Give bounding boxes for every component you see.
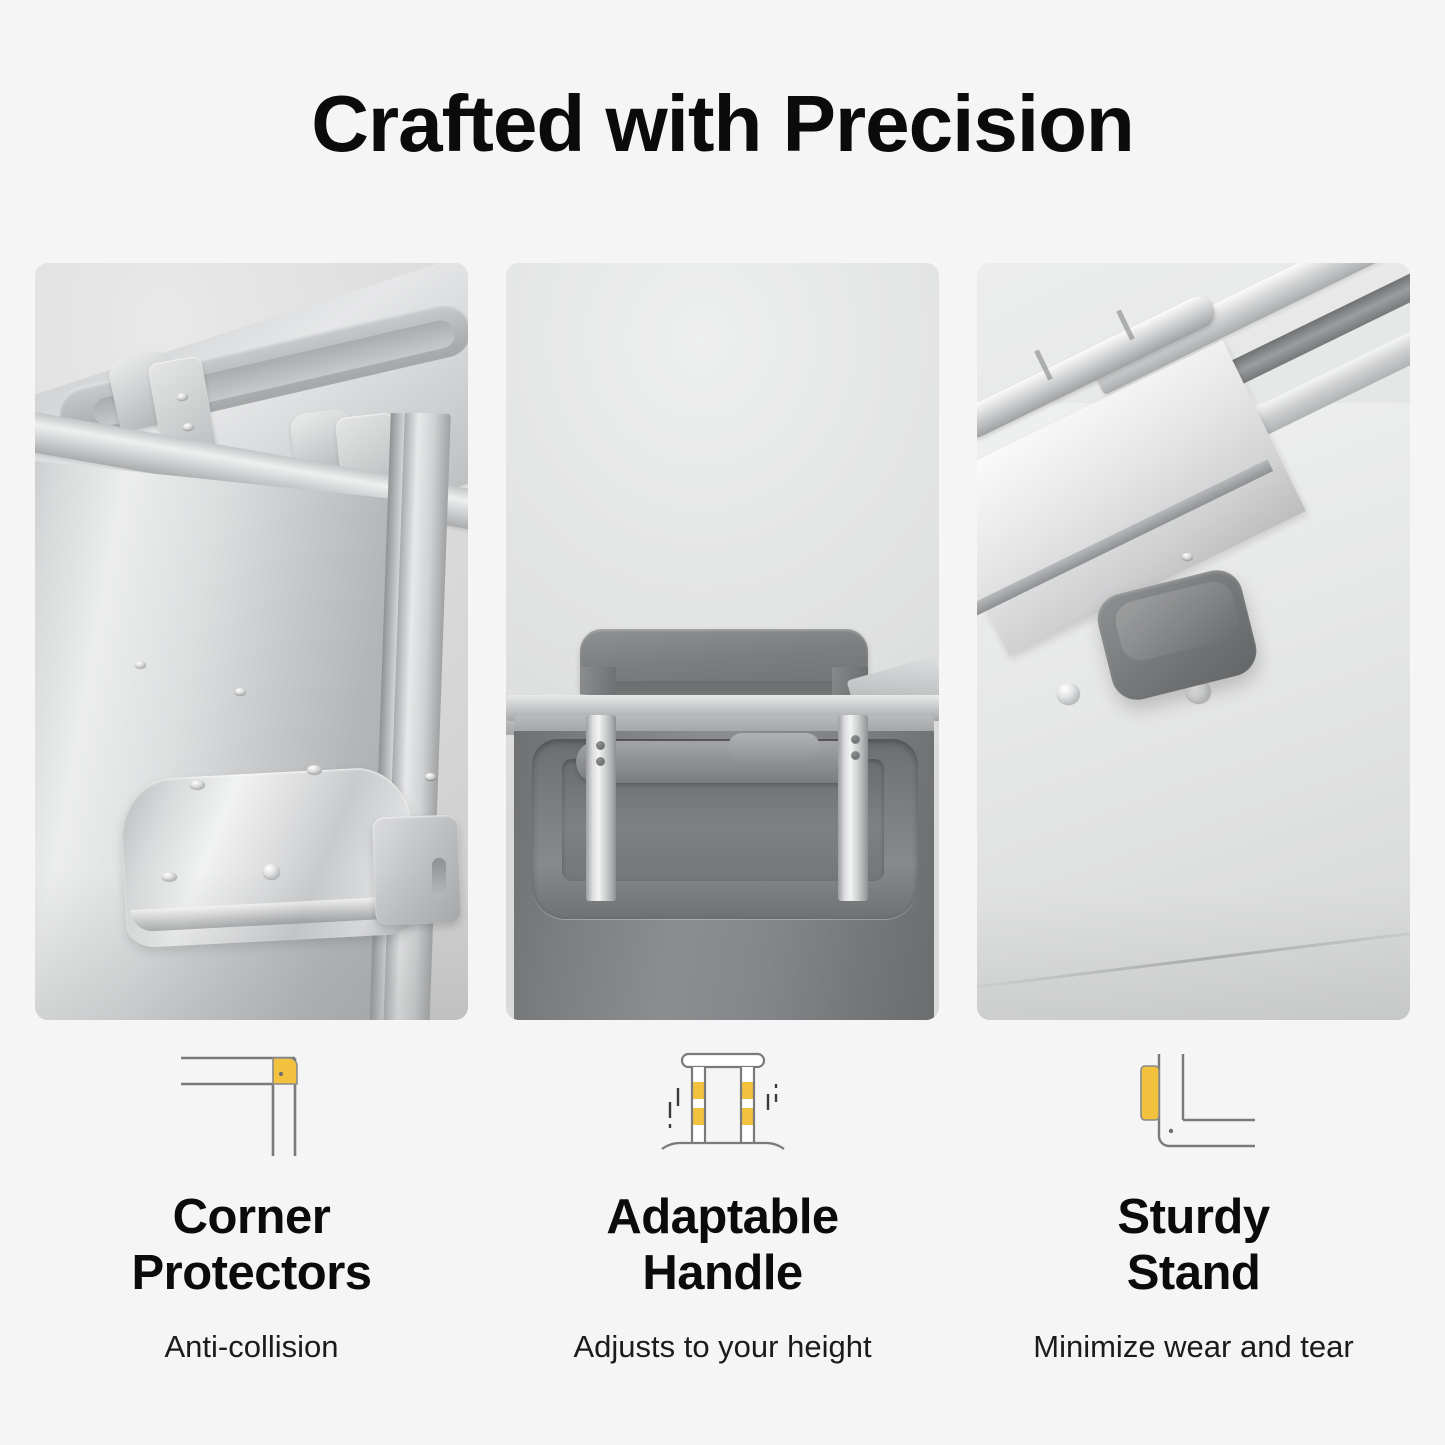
handle-adjust-button <box>851 751 860 760</box>
feature-column-sturdy-stand: Sturdy Stand Minimize wear and tear <box>977 263 1410 1383</box>
feature-column-corner-protectors: Corner Protectors Anti-collision <box>35 263 468 1383</box>
adaptable-handle-icon <box>648 1044 798 1164</box>
feature-subtitle-sturdy-stand: Minimize wear and tear <box>1033 1328 1353 1365</box>
side-carry-handle <box>576 741 864 783</box>
hinge-and-stand-foot-photo <box>977 263 1410 1020</box>
feature-title-line-2: Protectors <box>131 1246 371 1300</box>
sturdy-stand-icon-wrap <box>977 1040 1410 1168</box>
feature-title-line-2: Handle <box>642 1246 802 1300</box>
corner-protector-icon <box>177 1044 327 1164</box>
feature-title-line-2: Stand <box>1127 1246 1261 1300</box>
frame-rivet <box>135 661 146 668</box>
feature-title-sturdy-stand: Sturdy Stand <box>1117 1190 1269 1302</box>
photo-bottom-shadow <box>35 870 468 1020</box>
feature-title-line-1: Corner <box>173 1190 331 1244</box>
suitcase-corner-protector-photo <box>35 263 468 1020</box>
feature-columns: Corner Protectors Anti-collision <box>35 263 1412 1383</box>
page-title: Crafted with Precision <box>0 84 1445 164</box>
corner-rivet <box>190 780 205 789</box>
photo-bottom-shadow <box>977 890 1410 1020</box>
handle-adjust-button <box>596 741 605 750</box>
adaptable-handle-icon-wrap <box>506 1040 939 1168</box>
frame-rivet <box>235 688 246 695</box>
feature-column-adaptable-handle: Adaptable Handle Adjusts to your height <box>506 263 939 1383</box>
frame-rivet <box>425 773 436 780</box>
handle-adjust-button <box>851 735 860 744</box>
feature-subtitle-corner-protectors: Anti-collision <box>164 1328 338 1365</box>
handle-adjust-button <box>596 757 605 766</box>
feature-title-line-1: Adaptable <box>606 1190 838 1244</box>
feature-title-corner-protectors: Corner Protectors <box>131 1190 371 1302</box>
hinge-rivet <box>1057 683 1080 704</box>
feature-subtitle-adaptable-handle: Adjusts to your height <box>573 1328 871 1365</box>
hinge-rivet <box>1182 553 1193 560</box>
feature-title-adaptable-handle: Adaptable Handle <box>606 1190 838 1302</box>
sturdy-stand-icon <box>1119 1044 1269 1164</box>
telescoping-handle-photo <box>506 263 939 1020</box>
side-carry-handle-nub <box>728 733 820 761</box>
corner-rivet <box>307 765 322 774</box>
corner-protector-icon-wrap <box>35 1040 468 1168</box>
feature-title-line-1: Sturdy <box>1117 1190 1269 1244</box>
